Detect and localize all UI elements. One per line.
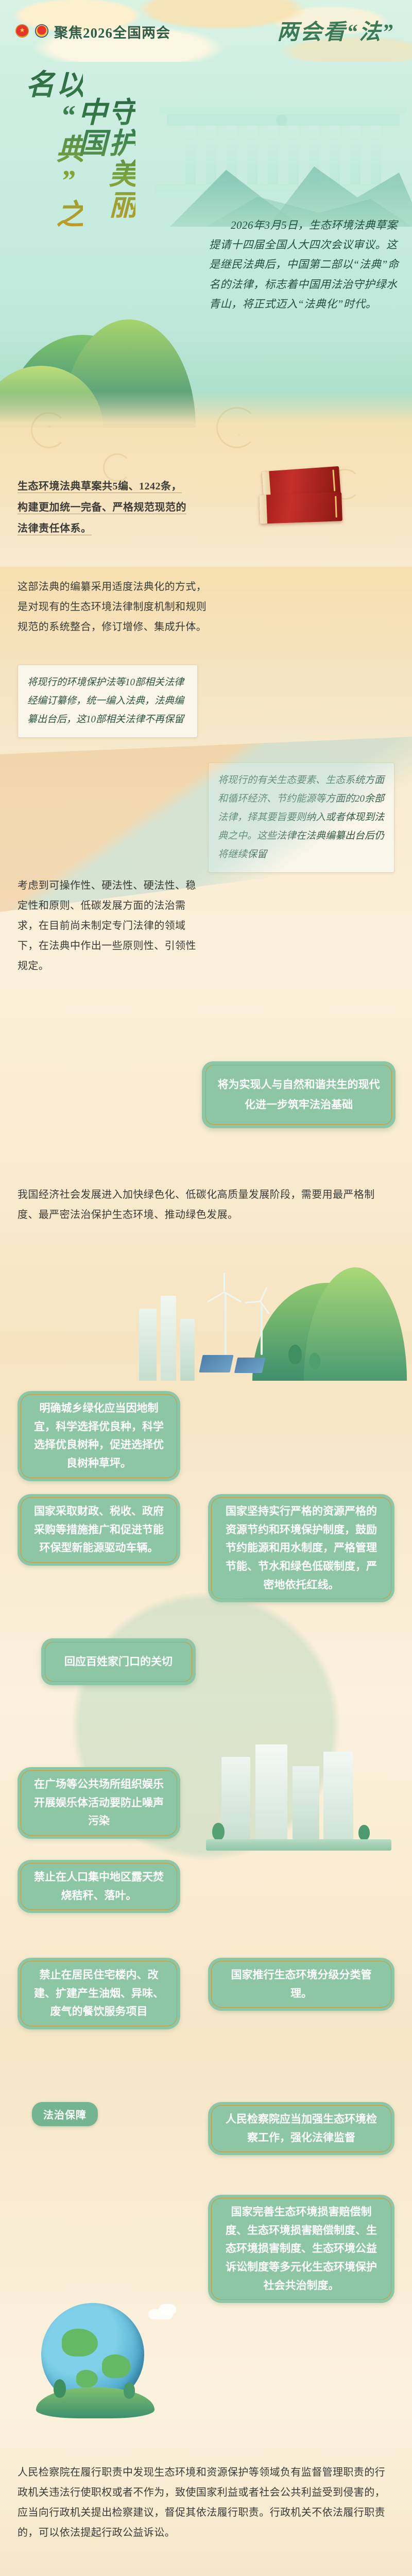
- people-concern-card: 回应百姓家门口的关切: [41, 1638, 196, 1685]
- infographic-page: 聚焦2026全国两会 两会看“法” 以“典”之名 守护美丽中国 2026年3月5…: [0, 0, 412, 2576]
- earth-illustration: [21, 2277, 185, 2432]
- green-city-pill: 明确城乡绿化应当因地制宜，科学选择优良种，科学选择优良树种，促进选择优良树种草坪…: [18, 1391, 180, 1481]
- grading-management-pill: 国家推行生态环境分级分类管理。: [208, 1958, 394, 2011]
- law-books-illustration: [247, 433, 350, 541]
- law-structure-text: 生态环境法典草案共5编、1242条，构建更加统一完备、严格规范现范的法律责任体系…: [18, 476, 187, 539]
- law-structure-label: 生态环境法典草案共5编、1242条，构建更加统一完备、严格规范现范的法律责任体系…: [18, 481, 186, 535]
- rule-of-law-tag: 法治保障: [32, 2102, 98, 2126]
- residential-illustration: [206, 1736, 391, 1855]
- square-dance-pill: 在广场等公共场所组织娱乐开展娱乐体活动要防止噪声污染: [18, 1767, 180, 1839]
- hero-calligraphy: 以“典”之名 守护美丽中国: [19, 68, 147, 233]
- channel-title: 聚焦2026全国两会: [54, 22, 170, 42]
- procuratorate-duty-pill: 人民检察院应当加强生态环境检察工作，强化法律监督: [208, 2102, 394, 2155]
- green-city-illustration: [134, 1252, 402, 1381]
- green-development-paragraph: 我国经济社会发展进入加快绿色化、低碳化高质量发展阶段，需要用最严格制度、最严密法…: [18, 1185, 393, 1225]
- hero-calligraphy-line2: 守护美丽中国: [74, 97, 135, 233]
- cppcc-emblem-icon: [35, 24, 48, 38]
- national-emblem-icon: [15, 24, 29, 38]
- noise-control-pill: 禁止在人口集中地区露天焚烧秸秆、落叶。: [18, 1860, 180, 1913]
- repeal-note-card: 将现行的环境保护法等10部相关法律经编订纂修，统一编入法典，法典编纂出台后，这1…: [18, 665, 198, 738]
- public-interest-paragraph: 人民检察院在履行职责中发现生态环境和资源保护等领域负有监督管理职责的行政机关违法…: [18, 2463, 393, 2543]
- tax-policy-pill: 国家采取财政、税收、政府采购等措施推广和促进节能环保型新能源驱动车辆。: [18, 1494, 180, 1566]
- compilation-paragraph: 这部法典的编纂采用适度法典化的方式，是对现有的生态环境法律制度机制和规则规范的系…: [18, 577, 212, 637]
- coordination-paragraph: 考虑到可操作性、硬法性、硬法性、稳定性和原则、低碳发展方面的法治需求，在目前尚未…: [18, 876, 203, 976]
- page-header: 聚焦2026全国两会 两会看“法”: [0, 0, 412, 62]
- green-foundation-card: 将为实现人与自然和谐共生的现代化进一步筑牢法治基础: [202, 1061, 396, 1128]
- multi-system-pill: 国家完善生态环境损害赔偿制度、生态环境损害赔偿制度、生态环境损害制度、生态环境公…: [208, 2195, 394, 2303]
- decoration-restriction-pill: 禁止在居民住宅楼内、改建、扩建产生油烟、异味、废气的餐饮服务项目: [18, 1958, 180, 2029]
- brush-series-title: 两会看“法”: [277, 14, 394, 46]
- intro-paragraph: 2026年3月5日，生态环境法典草案提请十四届全国人大四次会议审议。这是继民法典…: [209, 215, 401, 314]
